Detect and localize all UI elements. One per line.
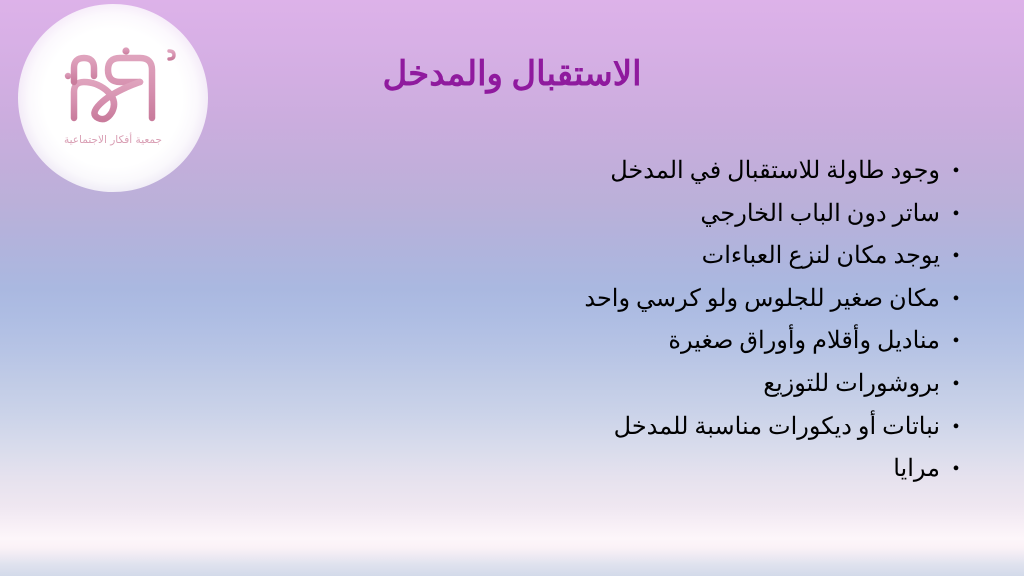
organization-logo: جمعية أفكار الاجتماعية (18, 4, 208, 192)
list-item-label: مرايا (893, 456, 940, 482)
list-item-label: نباتات أو ديكورات مناسبة للمدخل (614, 414, 940, 440)
list-item-label: بروشورات للتوزيع (763, 371, 940, 397)
list-item: • نباتات أو ديكورات مناسبة للمدخل (266, 406, 966, 449)
bullet-icon: • (946, 320, 966, 363)
list-item-label: يوجد مكان لنزع العباءات (702, 243, 940, 269)
slide-title: الاستقبال والمدخل (0, 56, 1024, 93)
list-item: • وجود طاولة للاستقبال في المدخل (266, 150, 966, 193)
list-item: • ساتر دون الباب الخارجي (266, 193, 966, 236)
logo-subtitle: جمعية أفكار الاجتماعية (18, 134, 208, 146)
list-item-label: مناديل وأقلام وأوراق صغيرة (668, 328, 940, 354)
list-item: • بروشورات للتوزيع (266, 363, 966, 406)
list-item: • مناديل وأقلام وأوراق صغيرة (266, 320, 966, 363)
presentation-slide: جمعية أفكار الاجتماعية الاستقبال والمدخل… (0, 0, 1024, 576)
bullet-icon: • (946, 150, 966, 193)
list-item: • مكان صغير للجلوس ولو كرسي واحد (266, 278, 966, 321)
list-item-label: مكان صغير للجلوس ولو كرسي واحد (584, 286, 940, 312)
list-item-label: ساتر دون الباب الخارجي (700, 201, 940, 227)
list-item: • يوجد مكان لنزع العباءات (266, 235, 966, 278)
bullet-icon: • (946, 406, 966, 449)
bullet-icon: • (946, 363, 966, 406)
list-item: • مرايا (266, 448, 966, 491)
bullet-icon: • (946, 235, 966, 278)
bullet-icon: • (946, 448, 966, 491)
bullet-list: • وجود طاولة للاستقبال في المدخل • ساتر … (266, 150, 966, 491)
list-item-label: وجود طاولة للاستقبال في المدخل (610, 158, 940, 184)
bullet-icon: • (946, 278, 966, 321)
bullet-icon: • (946, 193, 966, 236)
